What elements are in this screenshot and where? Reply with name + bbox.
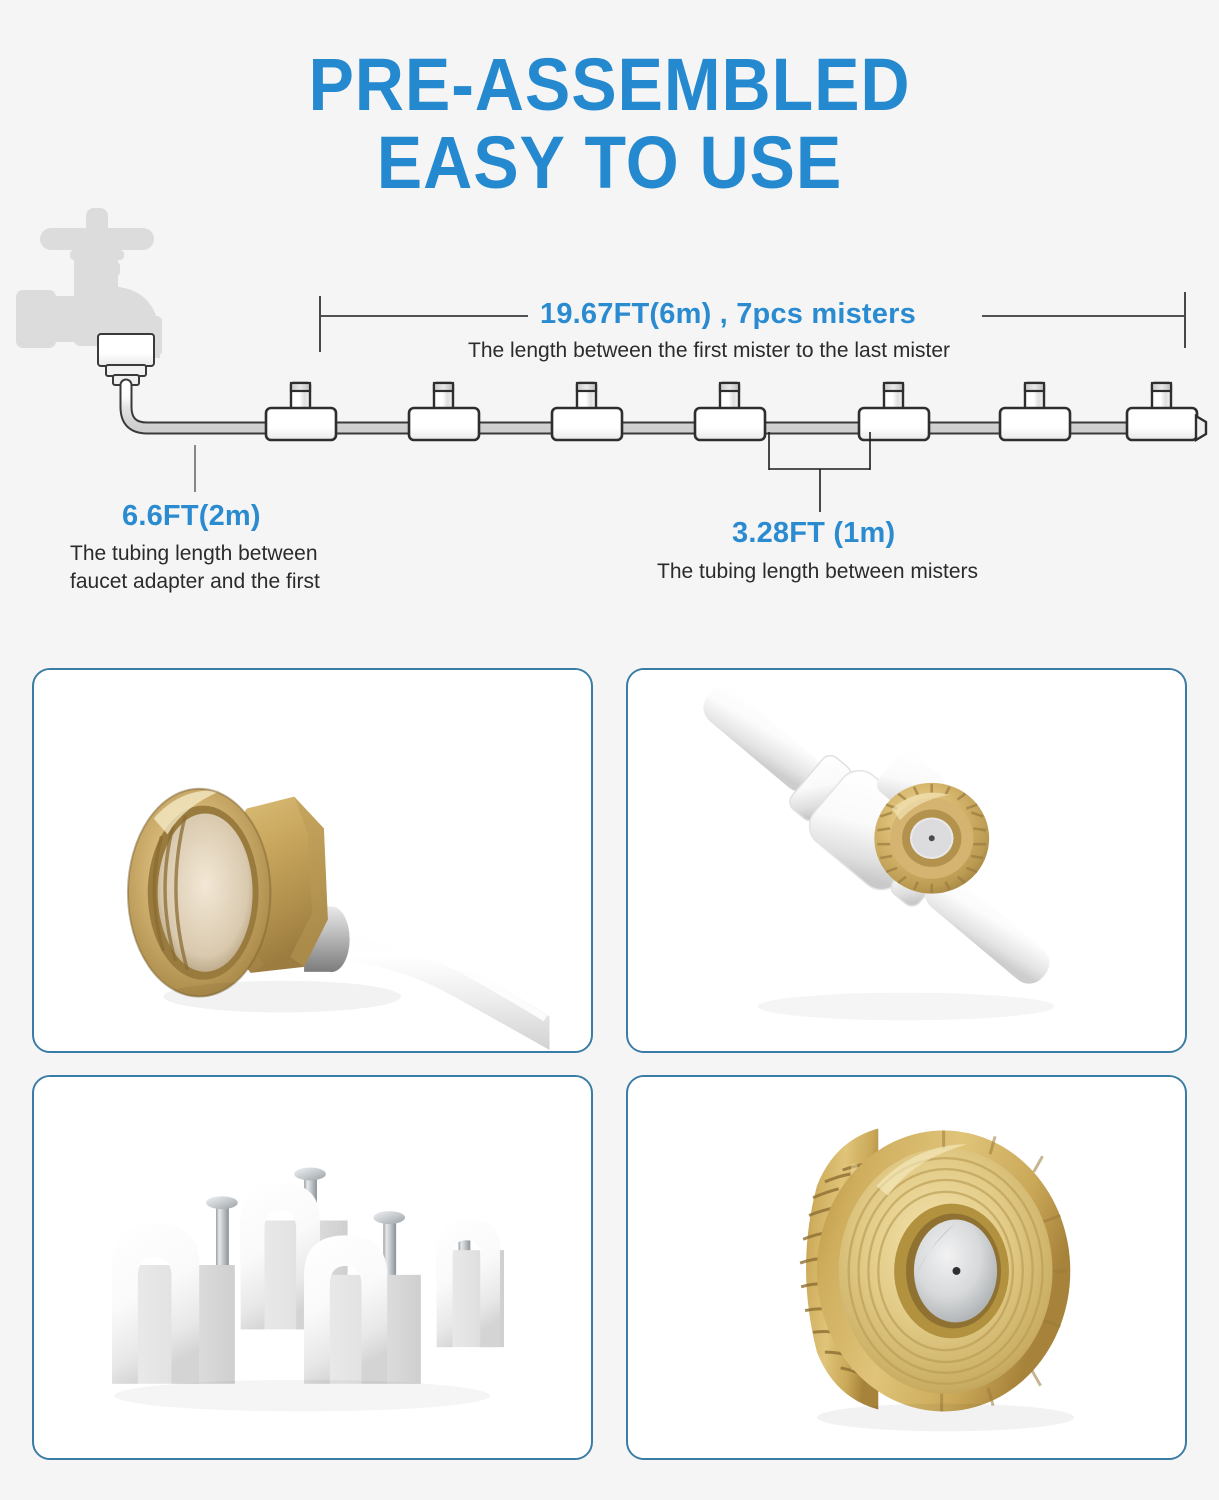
photo-cable-clips (32, 1075, 593, 1460)
mister-nozzle (552, 383, 622, 440)
dimension-lead-sub-line1: The tubing length between (70, 540, 320, 568)
faucet-adapter-illustration (34, 670, 591, 1051)
dimension-lead-sub: The tubing length between faucet adapter… (70, 540, 320, 596)
mister-nozzle (695, 383, 765, 440)
end-cap-icon (1196, 416, 1206, 440)
brass-nozzle-icon (874, 783, 989, 894)
mister-nozzle (409, 383, 479, 440)
orifice-hole (953, 1267, 961, 1275)
cable-clips-illustration (34, 1077, 591, 1458)
faucet-adapter-icon (98, 334, 154, 385)
photo-faucet-adapter (32, 668, 593, 1053)
misting-line-diagram: 19.67FT(6m) , 7pcs misters The length be… (0, 0, 1219, 640)
photo-mister-tee-connector (626, 668, 1187, 1053)
mister-nozzle (266, 383, 336, 440)
mister-nozzle (859, 383, 929, 440)
dimension-total-sub: The length between the first mister to t… (468, 337, 950, 365)
photo-brass-nozzle (626, 1075, 1187, 1460)
dimension-spacing-label: 3.28FT (1m) (732, 517, 895, 550)
clip-item (437, 1219, 504, 1348)
product-photo-grid (32, 668, 1187, 1460)
mister-nozzle (1000, 383, 1070, 440)
infographic-page: PRE-ASSEMBLED EASY TO USE (0, 0, 1219, 1500)
dimension-spacing (769, 432, 870, 512)
dimension-lead-sub-line2: faucet adapter and the first (70, 568, 320, 596)
dimension-total-label: 19.67FT(6m) , 7pcs misters (540, 298, 916, 331)
dimension-lead-label: 6.6FT(2m) (122, 500, 261, 533)
brass-nozzle-illustration (628, 1077, 1185, 1458)
mister-tee-illustration (628, 670, 1185, 1051)
mister-nozzle (1127, 383, 1197, 440)
dimension-spacing-sub: The tubing length between misters (657, 558, 978, 586)
